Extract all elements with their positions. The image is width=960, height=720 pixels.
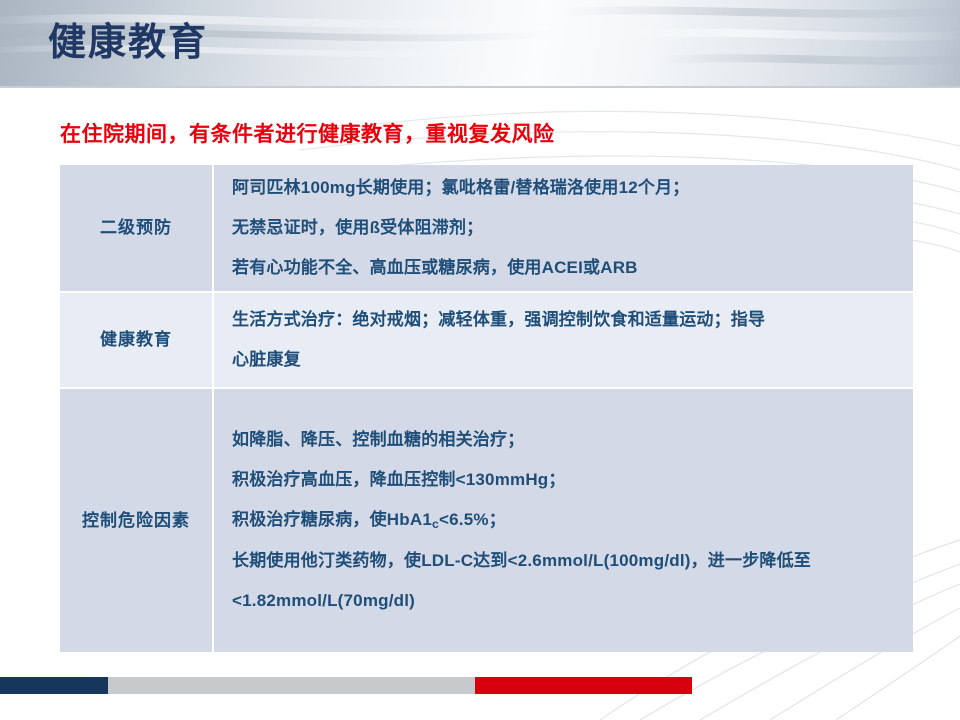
content-line-hba1c: 积极治疗糖尿病，使HbA1c<6.5%；	[232, 500, 899, 541]
row-label: 健康教育	[60, 327, 212, 353]
table-row: 健康教育 生活方式治疗：绝对戒烟；减轻体重，强调控制饮食和适量运动；指导 心脏康…	[60, 293, 913, 389]
header-band: 健康教育	[0, 0, 960, 88]
hba1c-suffix: <6.5%；	[439, 510, 506, 529]
subtitle-text: 在住院期间，有条件者进行健康教育，重视复发风险	[60, 118, 555, 148]
row-label-cell-risk-factor-control: 控制危险因素	[60, 389, 214, 652]
footer-bar	[0, 677, 960, 694]
row-content-cell-health-education: 生活方式治疗：绝对戒烟；减轻体重，强调控制饮食和适量运动；指导 心脏康复	[214, 293, 913, 389]
content-line: 积极治疗高血压，降血压控制<130mmHg；	[232, 460, 899, 500]
footer-segment-navy	[0, 677, 108, 694]
content-line: 生活方式治疗：绝对戒烟；减轻体重，强调控制饮食和适量运动；指导	[232, 300, 899, 340]
row-content-cell-risk-factor-control: 如降脂、降压、控制血糖的相关治疗； 积极治疗高血压，降血压控制<130mmHg；…	[214, 389, 913, 652]
hba1c-subscript: c	[432, 517, 439, 531]
table-row: 控制危险因素 如降脂、降压、控制血糖的相关治疗； 积极治疗高血压，降血压控制<1…	[60, 389, 913, 652]
hba1c-prefix: 积极治疗糖尿病，使HbA1	[232, 510, 432, 529]
page-title: 健康教育	[48, 17, 208, 69]
row-label: 控制危险因素	[60, 508, 212, 534]
content-line: 若有心功能不全、高血压或糖尿病，使用ACEI或ARB	[232, 248, 899, 288]
header-divider	[0, 86, 960, 88]
slide-canvas: 健康教育 在住院期间，有条件者进行健康教育，重视复发风险 二级预防 阿司匹林10…	[0, 0, 960, 720]
table-row: 二级预防 阿司匹林100mg长期使用；氯吡格雷/替格瑞洛使用12个月； 无禁忌证…	[60, 165, 913, 293]
health-education-table: 二级预防 阿司匹林100mg长期使用；氯吡格雷/替格瑞洛使用12个月； 无禁忌证…	[60, 165, 913, 652]
content-line: 无禁忌证时，使用ß受体阻滞剂；	[232, 208, 899, 248]
content-line: 长期使用他汀类药物，使LDL-C达到<2.6mmol/L(100mg/dl)，进…	[232, 541, 899, 621]
footer-segment-gray	[108, 677, 475, 694]
row-label-cell-secondary-prevention: 二级预防	[60, 165, 214, 293]
content-line: 如降脂、降压、控制血糖的相关治疗；	[232, 420, 899, 460]
content-line: 阿司匹林100mg长期使用；氯吡格雷/替格瑞洛使用12个月；	[232, 168, 899, 208]
row-content-cell-secondary-prevention: 阿司匹林100mg长期使用；氯吡格雷/替格瑞洛使用12个月； 无禁忌证时，使用ß…	[214, 165, 913, 293]
footer-segment-red	[475, 677, 692, 694]
row-label: 二级预防	[60, 215, 212, 241]
row-label-cell-health-education: 健康教育	[60, 293, 214, 389]
content-line: 心脏康复	[232, 340, 899, 380]
